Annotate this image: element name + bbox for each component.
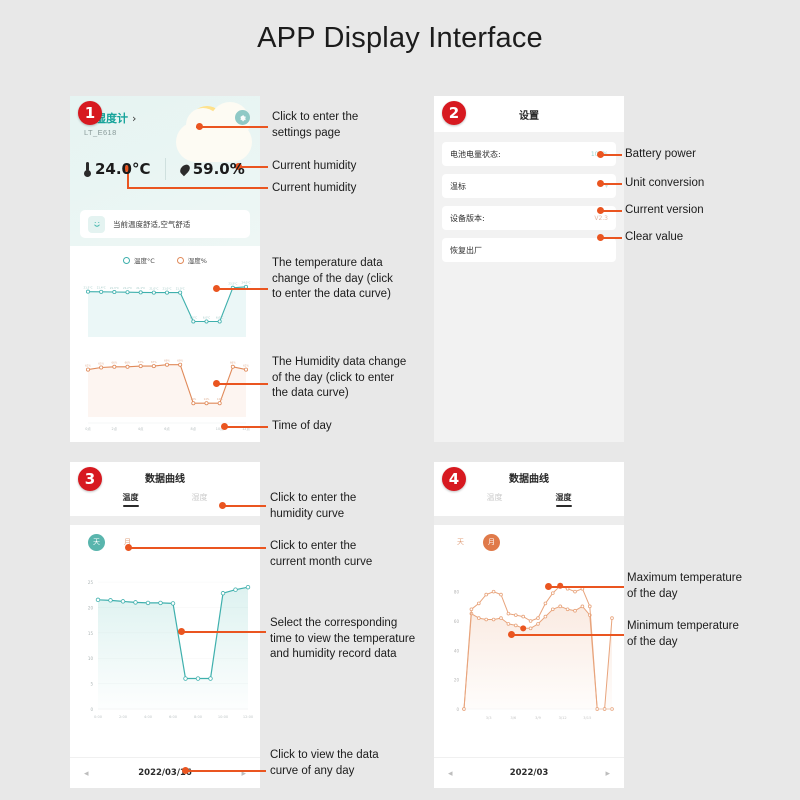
svg-text:21.4°C: 21.4°C [97,286,106,290]
current-month[interactable]: 2022/03 [510,768,549,778]
day-curve-svg[interactable]: 05101520250:002:004:006:008:0010:0012:00 [70,559,260,752]
svg-text:20: 20 [88,605,94,610]
settings-row-label: 电池电量状态: [450,149,501,160]
segment-month[interactable]: 月 [483,534,500,551]
next-month-button[interactable]: ▸ [605,768,610,779]
badge-1: 1 [78,101,102,125]
svg-text:0: 0 [90,707,93,712]
annotation-current-humidity-2: Current humidity [272,181,432,197]
chart-legend: 温度°C 湿度% [78,252,252,265]
section-divider [434,516,624,525]
legend-humidity-label: 湿度% [188,255,207,265]
settings-row-label: 设备版本: [450,213,485,224]
leader-dot [597,234,604,241]
prev-month-button[interactable]: ◂ [448,768,453,779]
svg-text:80: 80 [454,590,460,595]
cloud-icon [176,122,252,162]
segment-day[interactable]: 天 [88,534,105,551]
annotation-any-day-curve: Click to view the data curve of any day [270,748,435,779]
svg-text:66%: 66% [125,361,131,365]
leader-dot [597,207,604,214]
svg-text:69%: 69% [177,359,183,363]
panel-day-curve: 数据曲线 温度 湿度 天 月 05101520250:002:004:006:0… [70,462,260,788]
leader-line [127,187,268,189]
leader-dot [213,285,220,292]
svg-text:3/3: 3/3 [486,716,492,720]
badge-3: 3 [78,467,102,491]
leader-line [185,770,266,772]
legend-humidity: 湿度% [177,255,207,265]
date-navigator: ◂ 2022/03 ▸ [434,757,624,788]
panel-home: 温湿度计› LT_E618 24.0°C 59.0% [70,96,260,442]
section-divider [70,516,260,525]
comfort-text: 当前温度舒适,空气舒适 [113,219,190,230]
leader-line [196,126,268,128]
leader-dot [178,628,185,635]
range-segments: 天 月 [434,525,624,559]
svg-text:60: 60 [454,619,460,624]
svg-text:14%: 14% [217,397,223,401]
device-id: LT_E618 [84,128,117,137]
annotation-select-time: Select the corresponding time to view th… [270,616,442,663]
gear-icon[interactable] [235,110,250,125]
svg-text:67%: 67% [138,360,144,364]
legend-temperature-label: 温度°C [134,255,155,265]
chevron-right-icon: › [132,112,136,125]
annotation-clear-value: Clear value [625,230,795,246]
svg-text:12:00: 12:00 [243,715,254,719]
legend-dot-icon [177,257,184,264]
date-navigator: ◂ 2022/03/16 ▸ [70,757,260,788]
annotation-max-temperature: Maximum temperature of the day [627,571,799,602]
svg-text:65%: 65% [98,361,104,365]
annotation-current-humidity-1: Current humidity [272,159,432,175]
svg-text:10: 10 [88,656,94,661]
leader-line [181,631,266,633]
annotation-current-version: Current version [625,203,795,219]
svg-text:2:00: 2:00 [119,715,128,719]
svg-text:24.0°C: 24.0°C [242,281,251,285]
day-curve-area[interactable]: 05101520250:002:004:006:008:0010:0012:00 [70,559,260,752]
svg-text:6点: 6点 [164,426,170,431]
svg-text:0: 0 [456,707,459,712]
range-segments: 天 月 [70,525,260,559]
svg-text:21.0°C: 21.0°C [176,286,185,290]
leader-dot [182,767,189,774]
curve-tabs: 温度 湿度 [70,492,260,516]
svg-text:69%: 69% [164,359,170,363]
settings-list: 电池电量状态: 100% 温标 ▾ 设备版本: V2.3 恢复出厂 [434,132,624,442]
svg-text:3/9: 3/9 [535,716,541,720]
annotation-humidity-change: The Humidity data change of the day (cli… [272,355,440,402]
annotation-settings-page: Click to enter the settings page [272,110,432,141]
leader-dot [196,123,203,130]
leader-dot [597,180,604,187]
leader-line [511,634,624,636]
readings-row: 24.0°C 59.0% [70,158,260,180]
leader-line [216,288,268,290]
leader-dot [125,544,132,551]
svg-text:15: 15 [88,631,94,636]
tab-temperature[interactable]: 温度 [487,492,503,507]
svg-text:21.3°C: 21.3°C [110,286,119,290]
settings-row-label: 恢复出厂 [450,245,482,256]
svg-text:62%: 62% [85,363,91,367]
svg-text:6.0°C: 6.0°C [203,315,210,319]
tab-temperature[interactable]: 温度 [123,492,139,507]
svg-text:3/12: 3/12 [559,716,567,720]
annotation-battery-power: Battery power [625,147,795,163]
svg-text:3/15: 3/15 [583,716,591,720]
annotation-month-curve: Click to enter the current month curve [270,539,435,570]
svg-text:6.0°C: 6.0°C [190,315,197,319]
svg-text:21.1°C: 21.1°C [136,286,145,290]
svg-text:0:00: 0:00 [94,715,103,719]
leader-line [224,426,268,428]
home-chart-svg[interactable]: 21.5°C21.4°C21.3°C21.2°C21.1°C21.0°C21.0… [78,265,252,437]
svg-text:21.5°C: 21.5°C [84,285,93,289]
svg-text:8:00: 8:00 [194,715,203,719]
humidity-reading: 59.0% [166,160,261,178]
leader-line [222,505,266,507]
svg-text:67%: 67% [151,360,157,364]
leader-dot [221,423,228,430]
leader-dot [219,502,226,509]
settings-row-label: 温标 [450,181,466,192]
legend-temperature: 温度°C [123,255,155,265]
segment-day[interactable]: 天 [452,534,469,551]
leader-dot [545,583,552,590]
settings-row-version[interactable]: 设备版本: V2.3 [442,206,616,230]
leader-line [548,586,624,588]
thermometer-icon [84,162,91,177]
svg-text:10:00: 10:00 [218,715,229,719]
svg-text:66%: 66% [230,361,236,365]
svg-text:14%: 14% [204,397,210,401]
curve-tabs: 温度 湿度 [434,492,624,516]
svg-text:23.5°C: 23.5°C [228,282,237,286]
annotation-unit-conversion: Unit conversion [625,176,795,192]
settings-row-unit[interactable]: 温标 ▾ [442,174,616,198]
leader-line [216,383,268,385]
tab-humidity[interactable]: 湿度 [556,492,572,507]
svg-text:8点: 8点 [191,426,197,431]
leader-dot [508,631,515,638]
svg-text:25: 25 [88,580,94,585]
legend-dot-icon [123,257,130,264]
settings-row-reset[interactable]: 恢复出厂 [442,238,616,262]
leader-dot [213,380,220,387]
annotation-time-of-day: Time of day [272,419,432,435]
droplet-icon [178,162,191,175]
svg-text:20: 20 [454,678,460,683]
badge-2: 2 [442,101,466,125]
settings-row-value: V2.3 [594,215,608,222]
svg-text:21.2°C: 21.2°C [123,286,132,290]
svg-text:4:00: 4:00 [144,715,153,719]
svg-text:0点: 0点 [85,426,91,431]
temperature-reading: 24.0°C [70,160,165,178]
settings-row-battery[interactable]: 电池电量状态: 100% [442,142,616,166]
svg-text:6.0°C: 6.0°C [216,315,223,319]
svg-text:21.0°C: 21.0°C [163,286,172,290]
svg-text:3/6: 3/6 [510,716,516,720]
badge-4: 4 [442,467,466,491]
svg-text:4点: 4点 [138,426,144,431]
svg-text:5: 5 [90,682,93,687]
svg-text:40: 40 [454,648,460,653]
prev-day-button[interactable]: ◂ [84,768,89,779]
annotation-humidity-curve: Click to enter the humidity curve [270,491,435,522]
leader-dot [597,151,604,158]
svg-text:2点: 2点 [112,426,118,431]
svg-text:66%: 66% [111,361,117,365]
svg-text:21.0°C: 21.0°C [149,286,158,290]
svg-text:62%: 62% [243,363,249,367]
annotation-min-temperature: Minimum temperature of the day [627,619,799,650]
svg-text:6:00: 6:00 [169,715,178,719]
smiley-icon [88,216,105,233]
temperature-value: 24.0°C [95,160,151,178]
annotation-temperature-change: The temperature data change of the day (… [272,256,437,303]
panel-settings: 设置 电池电量状态: 100% 温标 ▾ 设备版本: V2.3 恢复出厂 [434,96,624,442]
comfort-card: 当前温度舒适,空气舒适 [80,210,250,238]
page-title: APP Display Interface [0,22,800,55]
leader-line [128,547,266,549]
svg-text:14%: 14% [190,397,196,401]
humidity-value: 59.0% [193,160,245,178]
home-charts[interactable]: 温度°C 湿度% 21.5°C21.4°C21.3°C21.2°C21.1°C2… [78,248,252,436]
panel-month-curve: 数据曲线 温度 湿度 天 月 0204060803/33/63/93/123/1… [434,462,624,788]
tab-humidity[interactable]: 湿度 [192,492,208,507]
